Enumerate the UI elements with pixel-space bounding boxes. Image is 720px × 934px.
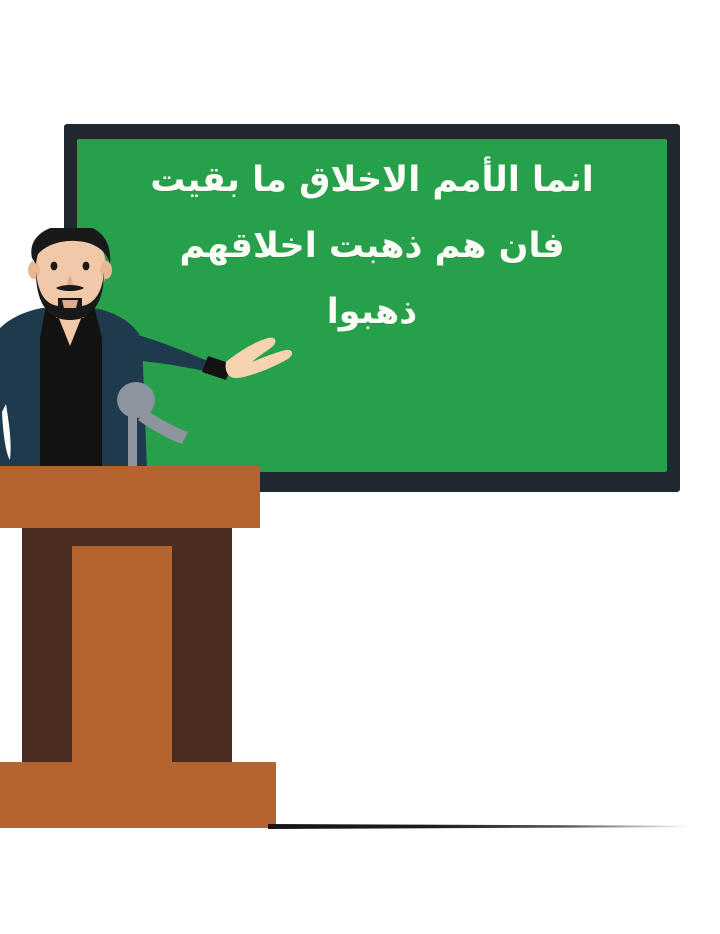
ground-line: [268, 824, 692, 829]
podium-desk: [0, 466, 260, 528]
podium-column: [72, 546, 172, 770]
arm-icon: [126, 332, 292, 380]
illustration-canvas: انما الأمم الاخلاق ما بقيت فان هم ذهبت ا…: [0, 0, 720, 934]
podium-base: [0, 762, 276, 828]
chalkboard-line-1: انما الأمم الاخلاق ما بقيت: [77, 163, 667, 198]
hand-icon: [226, 338, 292, 379]
speaker-figure: [0, 228, 306, 496]
podium: [0, 466, 300, 830]
